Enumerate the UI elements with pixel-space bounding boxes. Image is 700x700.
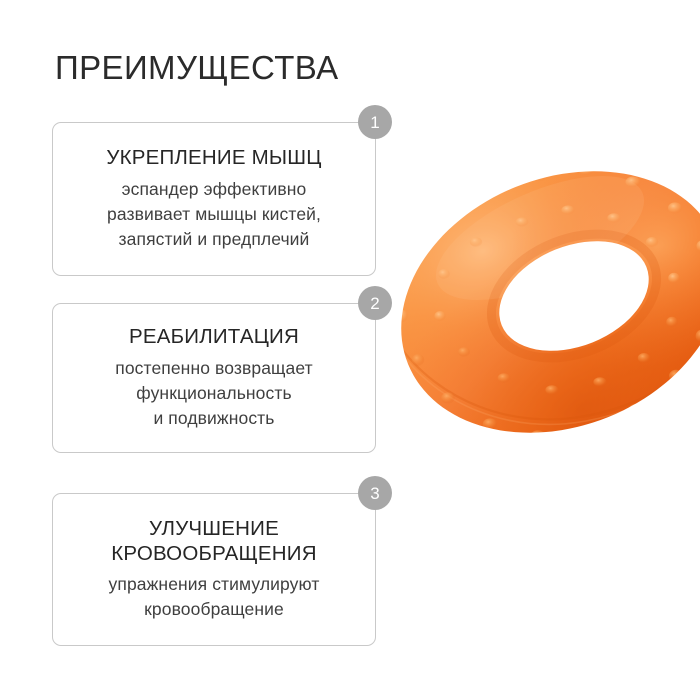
ring-body: [390, 130, 700, 484]
benefit-card-3-title: УЛУЧШЕНИЕ КРОВООБРАЩЕНИЯ: [111, 516, 316, 566]
benefit-card-2-body: постепенно возвращает функциональность и…: [115, 356, 312, 431]
benefit-card-2-title: РЕАБИЛИТАЦИЯ: [129, 324, 299, 349]
benefit-card-1-number-badge: 1: [358, 105, 392, 139]
promo-page: ПРЕИМУЩЕСТВА УКРЕПЛЕНИЕ МЫШЦ эспандер эф…: [0, 0, 700, 700]
benefit-card-2[interactable]: РЕАБИЛИТАЦИЯ постепенно возвращает функц…: [52, 303, 376, 453]
benefit-card-1[interactable]: УКРЕПЛЕНИЕ МЫШЦ эспандер эффективно разв…: [52, 122, 376, 276]
benefit-card-3-body-line: кровообращение: [109, 597, 320, 622]
benefit-card-3-number-badge: 3: [358, 476, 392, 510]
benefit-card-3[interactable]: УЛУЧШЕНИЕ КРОВООБРАЩЕНИЯ упражнения стим…: [52, 493, 376, 646]
page-title: ПРЕИМУЩЕСТВА: [55, 48, 338, 88]
benefit-card-3-title-line: УЛУЧШЕНИЕ: [111, 516, 316, 541]
product-image-expander-ring: [390, 130, 700, 530]
benefit-card-2-body-line: и подвижность: [115, 406, 312, 431]
benefit-card-1-body-line: эспандер эффективно: [107, 177, 321, 202]
benefit-card-2-body-line: постепенно возвращает: [115, 356, 312, 381]
benefit-card-2-body-line: функциональность: [115, 381, 312, 406]
benefit-card-3-body-line: упражнения стимулируют: [109, 572, 320, 597]
benefit-card-3-body: упражнения стимулируют кровообращение: [109, 572, 320, 622]
benefit-card-1-body-line: развивает мышцы кистей,: [107, 202, 321, 227]
benefit-card-1-title: УКРЕПЛЕНИЕ МЫШЦ: [106, 145, 321, 170]
benefit-card-3-title-line: КРОВООБРАЩЕНИЯ: [111, 541, 316, 566]
benefit-card-2-number-badge: 2: [358, 286, 392, 320]
benefit-card-1-body: эспандер эффективно развивает мышцы кист…: [107, 177, 321, 252]
ring-texture-bumps: [396, 165, 700, 442]
benefit-card-1-body-line: запястий и предплечий: [107, 227, 321, 252]
